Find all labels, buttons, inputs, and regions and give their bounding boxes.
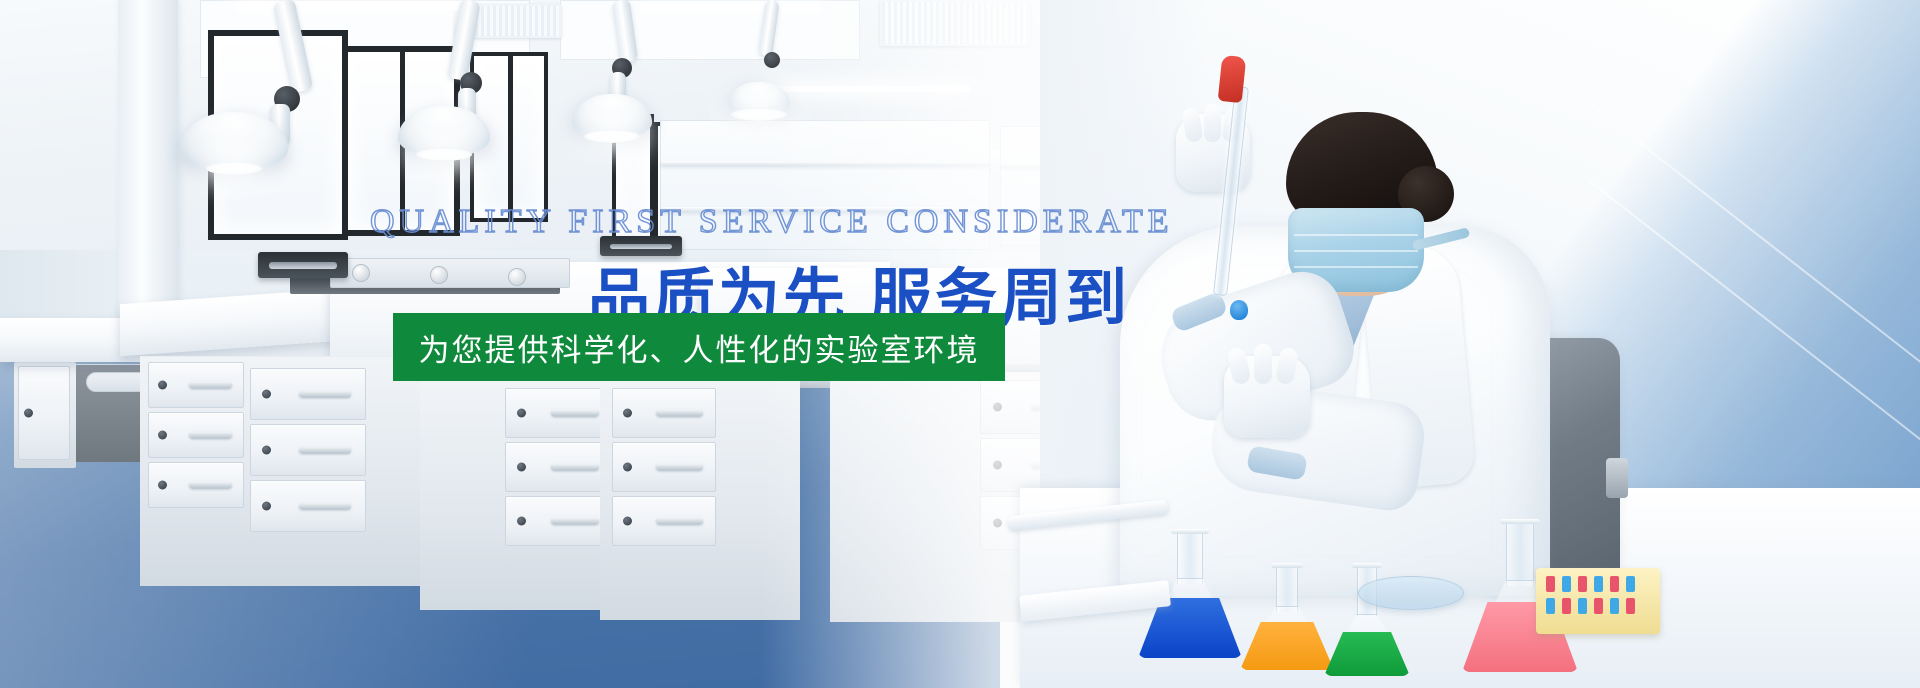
drawer: [505, 388, 613, 438]
drawer: [250, 480, 366, 532]
drawer: [612, 442, 716, 492]
structural-pillar: [118, 0, 178, 330]
drawer: [148, 412, 244, 458]
drawer-lock-icon: [262, 446, 271, 455]
drawer-lock-icon: [993, 461, 1002, 470]
hero-banner: QUALITY FIRST SERVICE CONSIDERATE 品质为先服务…: [0, 0, 1920, 688]
scientist-figure: [1120, 36, 1590, 596]
bench-service-tray: [86, 372, 148, 392]
drawer-lock-icon: [158, 481, 167, 490]
pipette-tip-rack-icon: [1536, 568, 1660, 634]
drawer-lock-icon: [623, 517, 632, 526]
service-knob-icon: [352, 264, 370, 282]
pipette-bulb-icon: [1218, 55, 1247, 103]
drawer-lock-icon: [993, 519, 1002, 528]
drawer-lock-icon: [623, 463, 632, 472]
drawer-lock-icon: [993, 403, 1002, 412]
drawer: [148, 362, 244, 408]
drawer: [250, 424, 366, 476]
drawer-lock-icon: [262, 390, 271, 399]
scientist-scene: [1040, 0, 1920, 688]
drawer-lock-icon: [517, 517, 526, 526]
liquid-drop-icon: [1230, 300, 1248, 320]
petri-dish-icon: [1358, 576, 1464, 610]
banner-subtitle-bar: 为您提供科学化、人性化的实验室环境: [393, 313, 1005, 381]
drawer-lock-icon: [623, 409, 632, 418]
erlenmeyer-flask-icon: [1240, 566, 1334, 670]
drawer-lock-icon: [517, 463, 526, 472]
drawer: [612, 388, 716, 438]
service-knob-icon: [430, 266, 448, 284]
drawer-lock-icon: [158, 381, 167, 390]
drawer: [505, 442, 613, 492]
banner-eyebrow-text: QUALITY FIRST SERVICE CONSIDERATE: [370, 203, 1174, 241]
drawer-lock-icon: [262, 502, 271, 511]
drawer: [148, 462, 244, 508]
drawer: [18, 366, 70, 460]
banner-subtitle-text: 为您提供科学化、人性化的实验室环境: [419, 325, 980, 370]
latex-glove-icon: [1224, 356, 1310, 438]
drawer: [505, 496, 613, 546]
dome-lamp-icon: [728, 82, 790, 116]
drawer-lock-icon: [517, 409, 526, 418]
bench-equipment: [258, 252, 348, 278]
service-knob-icon: [508, 268, 526, 286]
drawer: [250, 368, 366, 420]
drawer: [612, 496, 716, 546]
ceiling-vent-icon: [880, 0, 1030, 46]
drawer-lock-icon: [24, 409, 33, 418]
drawer-lock-icon: [158, 431, 167, 440]
